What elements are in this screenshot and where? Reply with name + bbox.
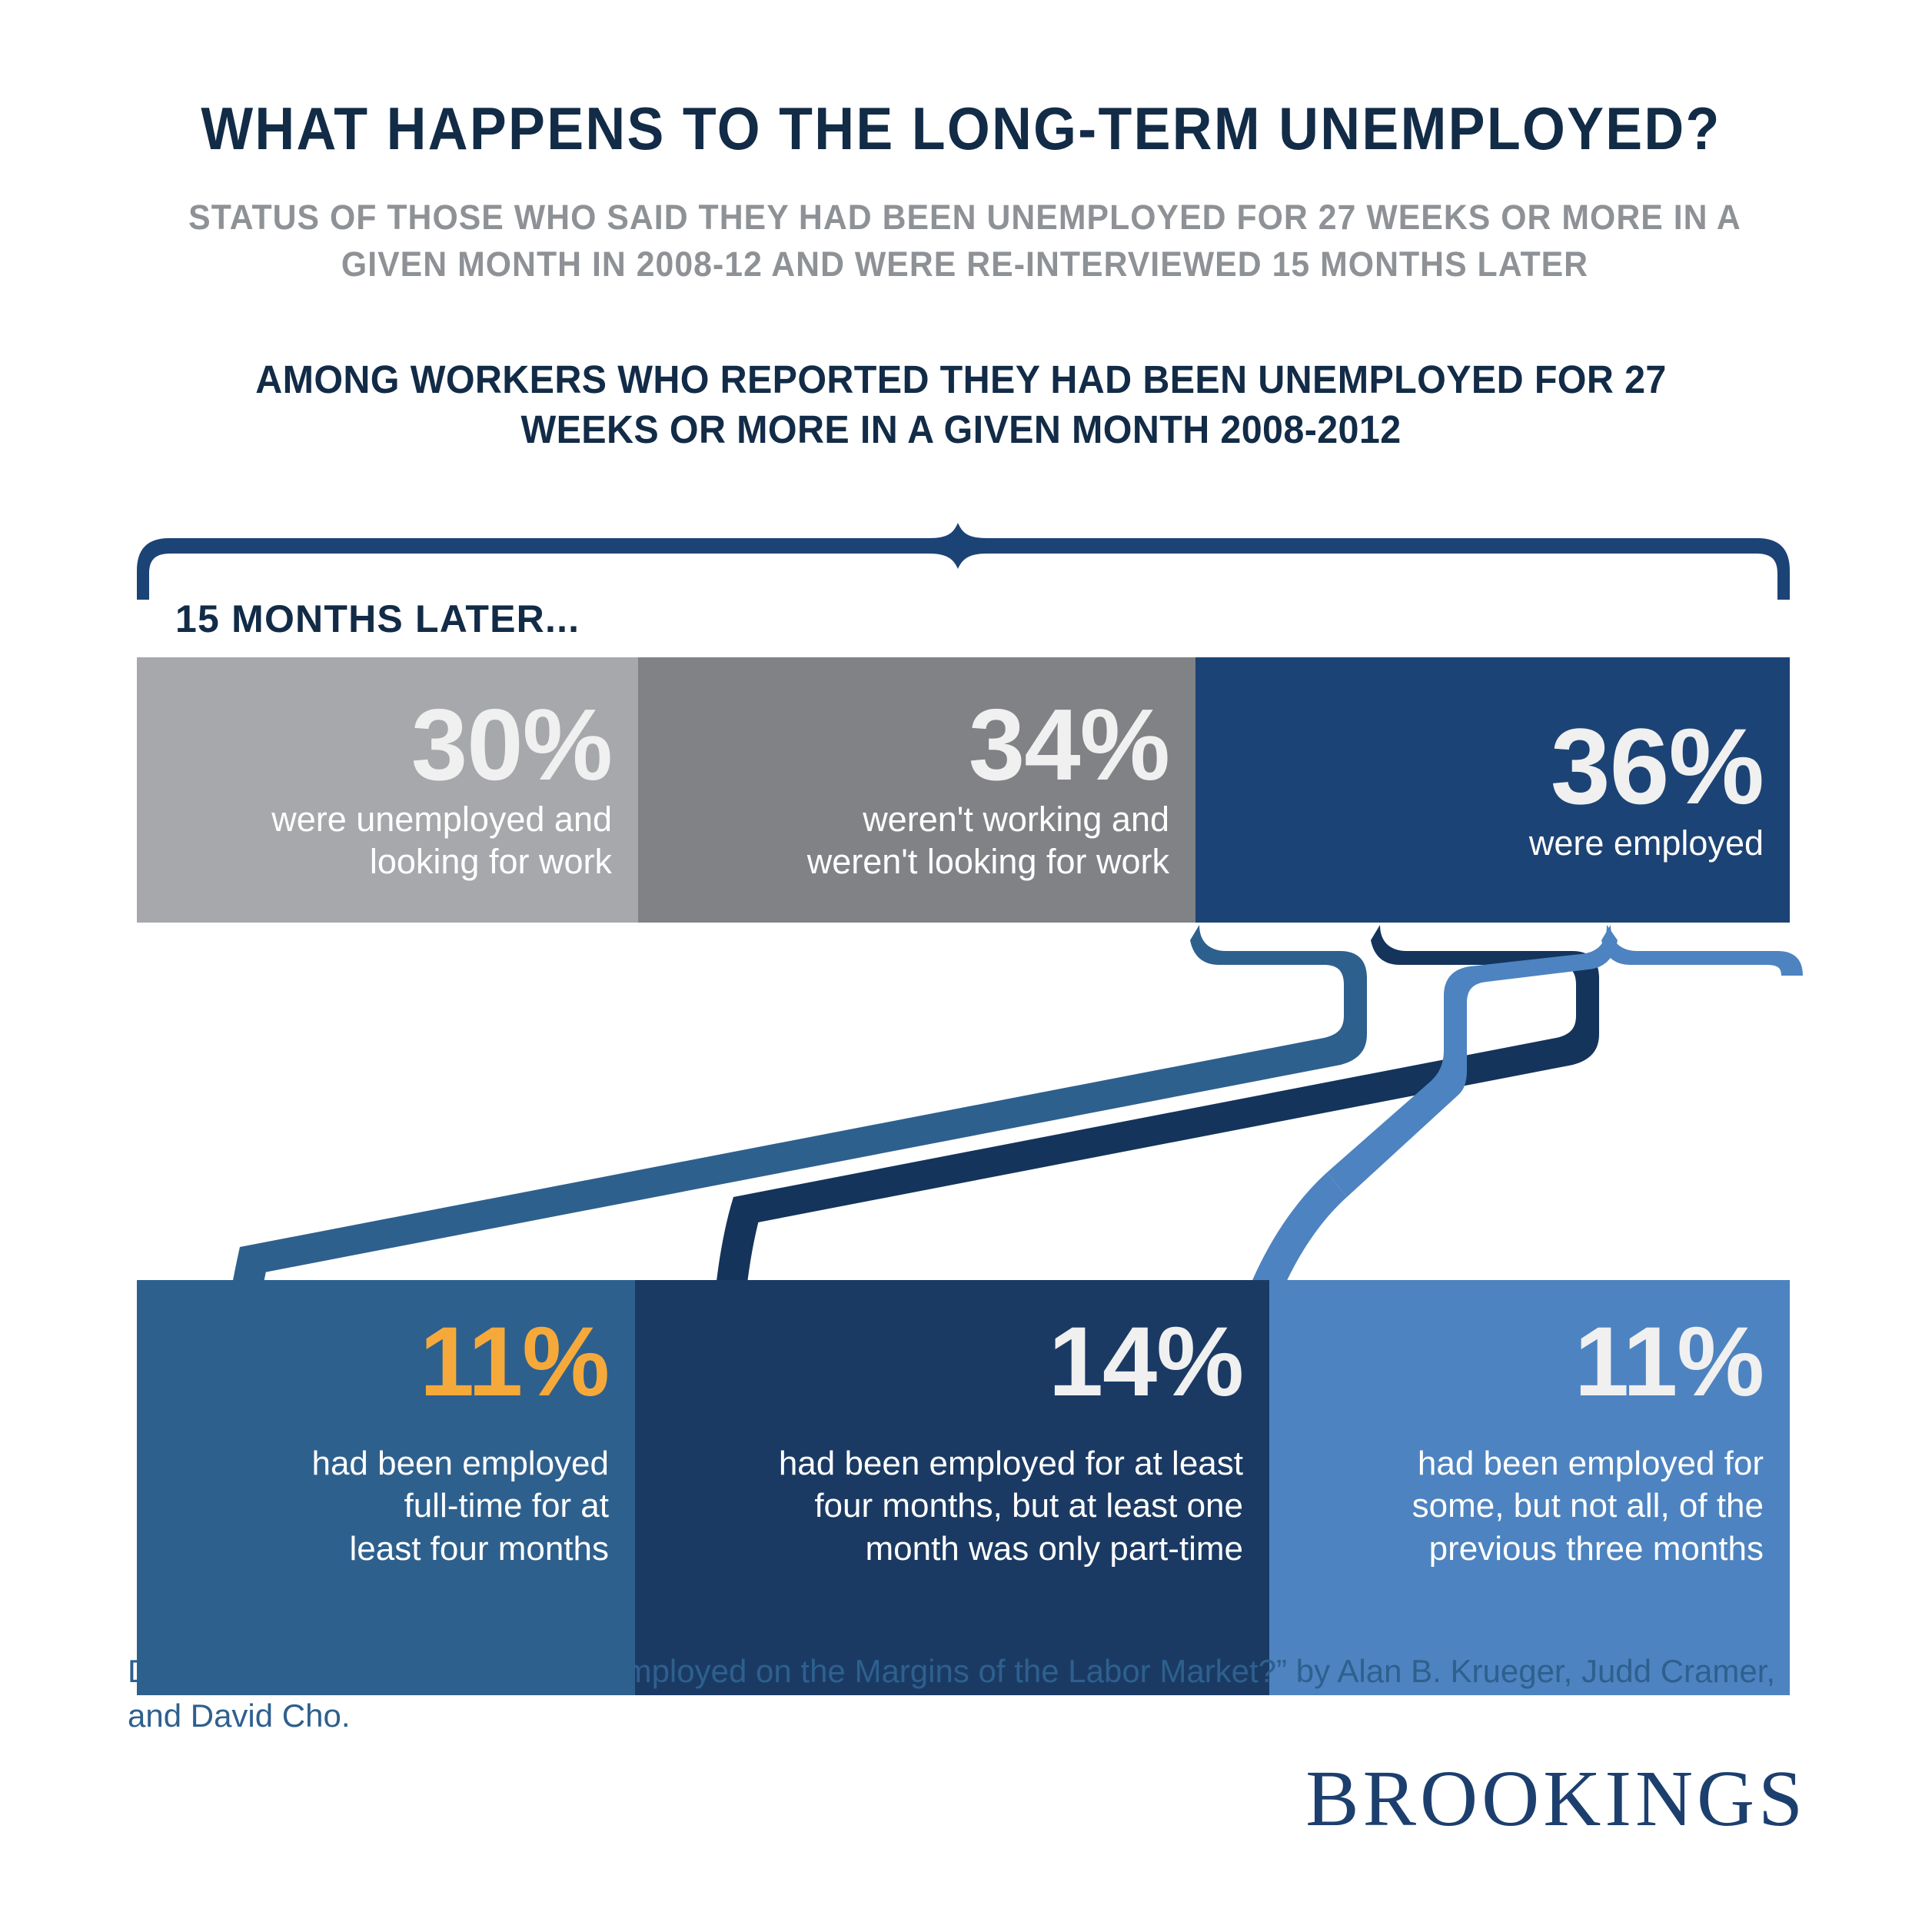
top-brace-icon <box>137 523 1790 600</box>
connector-right-icon <box>1245 925 1803 1288</box>
connector-left-icon <box>114 925 1367 1288</box>
connector-middle-icon <box>601 925 1599 1288</box>
status-bar-row-bottom: 11% had been employed full-time for at l… <box>137 1280 1790 1695</box>
page-title: WHAT HAPPENS TO THE LONG-TERM UNEMPLOYED… <box>77 98 1845 158</box>
bar-were-employed: 36% were employed <box>1195 657 1790 923</box>
page-subtitle: STATUS OF THOSE WHO SAID THEY HAD BEEN U… <box>165 194 1765 288</box>
top-brace <box>137 523 1790 600</box>
bar-percent-value: 14% <box>1049 1315 1243 1410</box>
bar-caption: had been employed for at least four mont… <box>779 1442 1243 1570</box>
brookings-logo: BROOKINGS <box>1305 1753 1807 1844</box>
months-later-label: 15 MONTHS LATER... <box>175 597 580 641</box>
source-attribution: Data from “Are the Long-Term Unemployed … <box>128 1649 1819 1738</box>
bar-percent-value: 34% <box>969 697 1169 794</box>
bar-percent-value: 36% <box>1551 715 1764 818</box>
lead-heading: AMONG WORKERS WHO REPORTED THEY HAD BEEN… <box>231 355 1691 455</box>
connector-arrows <box>0 919 1922 1288</box>
bar-caption: had been employed for some, but not all,… <box>1412 1442 1764 1570</box>
bar-percent-value: 11% <box>420 1315 609 1410</box>
bar-percent-value: 30% <box>411 697 612 794</box>
bar-employed-partial: 11% had been employed for some, but not … <box>1269 1280 1790 1695</box>
infographic-canvas: WHAT HAPPENS TO THE LONG-TERM UNEMPLOYED… <box>0 0 1922 1932</box>
bar-not-working-not-looking: 34% weren't working and weren't looking … <box>638 657 1195 923</box>
bar-employed-fulltime: 11% had been employed full-time for at l… <box>137 1280 635 1695</box>
bar-percent-value: 11% <box>1575 1315 1764 1410</box>
bar-caption: weren't working and weren't looking for … <box>807 799 1169 883</box>
bar-caption: were employed <box>1529 823 1764 865</box>
status-bar-row-top: 30% were unemployed and looking for work… <box>137 657 1790 923</box>
bar-caption: were unemployed and looking for work <box>271 799 612 883</box>
bar-unemployed-looking: 30% were unemployed and looking for work <box>137 657 638 923</box>
bar-caption: had been employed full-time for at least… <box>311 1442 609 1570</box>
connector-arrows-svg <box>0 919 1922 1288</box>
bar-employed-parttime: 14% had been employed for at least four … <box>635 1280 1269 1695</box>
